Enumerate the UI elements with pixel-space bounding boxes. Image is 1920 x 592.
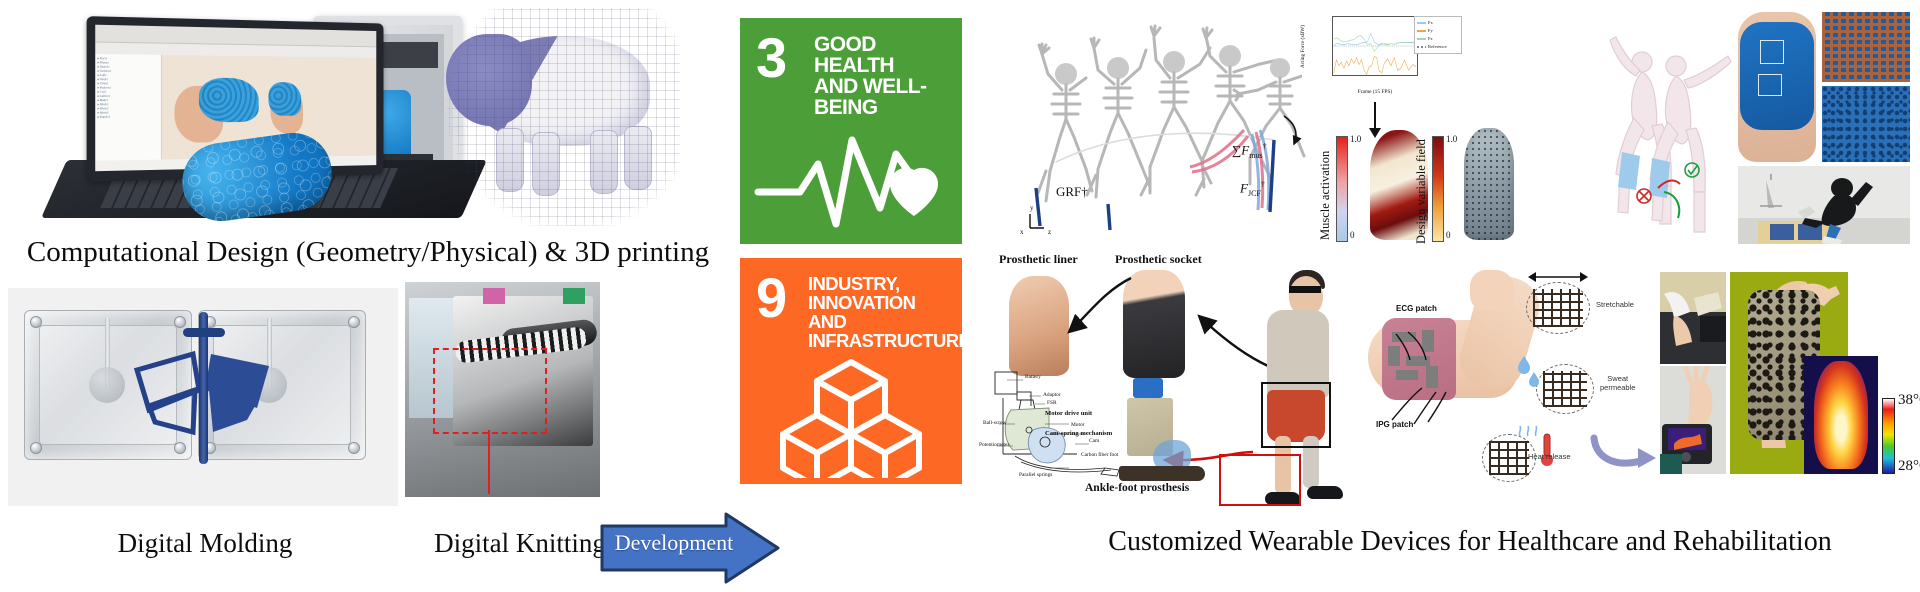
sleeve-zoom-box-1 <box>1760 40 1784 64</box>
yarn-cone-pink <box>483 288 505 304</box>
heat-release-label: Heat release <box>1528 452 1571 461</box>
legend-item-fz: Fz <box>1417 35 1459 43</box>
legend-item-fx: Fx <box>1417 19 1459 27</box>
fist <box>1470 270 1514 310</box>
thermal-min-label: 28°C <box>1898 458 1920 475</box>
grf-label: GRF† <box>1056 184 1088 200</box>
schematic-label-ball-screw: Ball-screw <box>983 420 1006 426</box>
pig-head <box>446 34 532 126</box>
afo-schematic-diagram: Battery Adaptor FSR Motor drive unit Mot… <box>985 368 1145 490</box>
development-arrow: Development <box>600 512 780 584</box>
skeleton-gait-sequence: y x z <box>1012 12 1312 252</box>
gait-lab-photo <box>1738 166 1910 244</box>
amputee-walking-photo <box>1261 264 1381 506</box>
knit-swatch-mesh <box>1822 86 1910 162</box>
yarn-cone-green <box>563 288 585 304</box>
mold-hole <box>348 316 360 328</box>
mold-hole <box>174 316 186 328</box>
chart-legend: Fx Fy Fz Reference <box>1414 16 1462 54</box>
heartbeat-icon <box>740 112 962 238</box>
socket-highlight-box <box>1261 382 1331 448</box>
schematic-label-adaptor: Adaptor <box>1043 392 1061 398</box>
mold-hole <box>30 316 42 328</box>
pig-leg-3 <box>590 130 618 194</box>
caption-customized-wearable-devices: Customized Wearable Devices for Healthca… <box>1020 526 1920 558</box>
auxetic-lattice <box>1543 371 1587 407</box>
prosthetic-socket-label: Prosthetic socket <box>1115 252 1202 267</box>
digital-molding-photo <box>8 288 398 506</box>
lattice-glove <box>199 78 259 123</box>
knitting-callout-box <box>433 348 547 434</box>
pig-quad-mesh-model <box>440 8 680 226</box>
design-cbar-max: 1.0 <box>1446 134 1457 144</box>
svg-text:x: x <box>1020 228 1024 236</box>
knee-brace-photo <box>1738 12 1816 162</box>
muscle-cbar-min: 0 <box>1350 230 1355 240</box>
sdg-9-title: INDUSTRY, INNOVATION AND INFRASTRUCTURE <box>808 274 954 350</box>
chart-lines <box>1333 17 1417 75</box>
chart-plot-area <box>1332 16 1418 76</box>
lattice-socket-model <box>1464 128 1514 240</box>
lattice-circle-stretchable <box>1526 282 1590 334</box>
schematic-label-fsr: FSR <box>1047 400 1057 406</box>
thermal-colorbar <box>1882 398 1895 474</box>
sleeve-zoom-box-2 <box>1758 74 1782 96</box>
sdg-3-title: GOOD HEALTH AND WELL-BEING <box>814 34 954 118</box>
digital-knitting-photo <box>405 282 600 497</box>
cubes-icon <box>740 352 962 478</box>
development-arrow-label: Development <box>614 530 734 556</box>
caption-digital-molding: Digital Molding <box>30 528 380 559</box>
wearable-patch-panel: ECG patch IPG patch Stretchable Sweat pe… <box>1368 268 1668 503</box>
muscle-cbar-max: 1.0 <box>1350 134 1361 144</box>
sdg-3-number: 3 <box>756 32 785 84</box>
thermal-hand-shape <box>1814 361 1867 470</box>
thermal-max-label: 38°C <box>1898 392 1920 409</box>
prosthetic-liner-label: Prosthetic liner <box>999 252 1078 267</box>
lattice-circle-sweat <box>1536 364 1594 414</box>
auxetic-lattice <box>1533 289 1583 327</box>
schematic-label-battery: Battery <box>1025 374 1041 380</box>
pig-leg-1 <box>496 128 524 192</box>
acting-force-chart: Acting Force (xBW) Frame (15 FPS) Fx Fy … <box>1302 10 1462 98</box>
schematic-label-parallel-springs: Parallel springs <box>1019 472 1052 478</box>
schematic-label-potentiometer: Potentiometer <box>979 442 1009 448</box>
schematic-label-carbon-fiber-foot: Carbon fiber foot <box>1081 452 1118 458</box>
knee-brace-panel <box>1612 8 1912 248</box>
sweat-permeable-line1: Sweat <box>1600 374 1635 383</box>
molded-butterfly-part <box>133 336 273 444</box>
schematic-label-cam: Cam <box>1089 438 1099 444</box>
thermal-camera-photo <box>1660 366 1726 474</box>
mold-hole <box>348 442 360 454</box>
musculoskeletal-simulation-panel: y x z GRF† ∑Fmus† FJCF† Acting Force (xB… <box>1012 8 1502 256</box>
cad-feature-tree: ▸ Part1▸ Planes▸ Sketch1▸ Surface1 ▸ Lof… <box>95 54 162 161</box>
chart-xlabel: Frame (15 FPS) <box>1332 89 1418 95</box>
sweat-droplets-icon <box>1516 354 1542 390</box>
schematic-label-motor-drive-unit: Motor drive unit <box>1045 410 1092 417</box>
sdg-3-title-line1: GOOD HEALTH <box>814 34 954 76</box>
design-variable-field-label: Design variable field <box>1414 126 1429 244</box>
caption-computational-design: Computational Design (Geometry/Physical)… <box>8 236 728 269</box>
sleeve-fitting-photo <box>1660 272 1726 364</box>
sweat-permeable-label: Sweat permeable <box>1600 374 1635 392</box>
molded-sprue-collar <box>183 328 225 337</box>
sdg-goal-3-block: 3 GOOD HEALTH AND WELL-BEING <box>740 18 962 244</box>
ecg-patch-label: ECG patch <box>1396 304 1437 313</box>
pig-leg-2 <box>532 132 560 196</box>
knit-swatch-ribbed <box>1822 12 1910 82</box>
sweat-permeable-line2: permeable <box>1600 383 1635 392</box>
afo-schematic-lines <box>985 368 1145 490</box>
muscle-activation-label: Muscle activation <box>1318 136 1333 240</box>
design-cbar-min: 0 <box>1446 230 1451 240</box>
lattice-glove-small <box>268 82 301 116</box>
foot-highlight-box <box>1219 454 1301 506</box>
legend-item-fy: Fy <box>1417 27 1459 35</box>
svg-text:z: z <box>1048 228 1051 236</box>
sdg-9-title-line1: INDUSTRY, INNOVATION <box>808 274 954 312</box>
walker-shoe-right <box>1307 486 1343 499</box>
muscle-activation-colorbar <box>1336 136 1348 242</box>
mold-hole <box>30 442 42 454</box>
ipg-patch-label: IPG patch <box>1376 420 1413 429</box>
pig-leg-4 <box>624 126 652 190</box>
sdg-9-number: 9 <box>756 272 785 324</box>
chart-ylabel: Acting Force (xBW) <box>1300 14 1314 80</box>
svg-text:y: y <box>1030 204 1034 212</box>
schematic-label-cam-spring: Cam-spring mechanism <box>1045 430 1112 437</box>
sum-fmus-label: ∑Fmus† <box>1232 142 1267 160</box>
sdg-goal-9-block: 9 INDUSTRY, INNOVATION AND INFRASTRUCTUR… <box>740 258 962 484</box>
knee-motion-figures <box>1606 10 1736 242</box>
thermometer-icon <box>1514 424 1560 472</box>
schematic-label-motor: Motor <box>1071 422 1084 428</box>
sdg-9-title-line2: AND INFRASTRUCTURE <box>808 312 954 350</box>
mold-sprue-disc <box>89 367 125 403</box>
legend-item-reference: Reference <box>1417 43 1459 51</box>
wrist-splint-thermal-panel: 38°C 28°C <box>1660 272 1918 504</box>
thermal-hand-image <box>1804 356 1878 474</box>
fjcf-label: FJCF† <box>1240 180 1265 198</box>
privacy-eye-bar <box>1289 286 1321 293</box>
knitting-callout-line <box>488 430 490 494</box>
prosthesis-panel: Prosthetic liner Prosthetic socket A <box>985 248 1380 510</box>
curved-arrow-icon <box>1590 432 1660 472</box>
design-variable-colorbar <box>1432 136 1444 242</box>
stretchable-label: Stretchable <box>1596 300 1634 309</box>
